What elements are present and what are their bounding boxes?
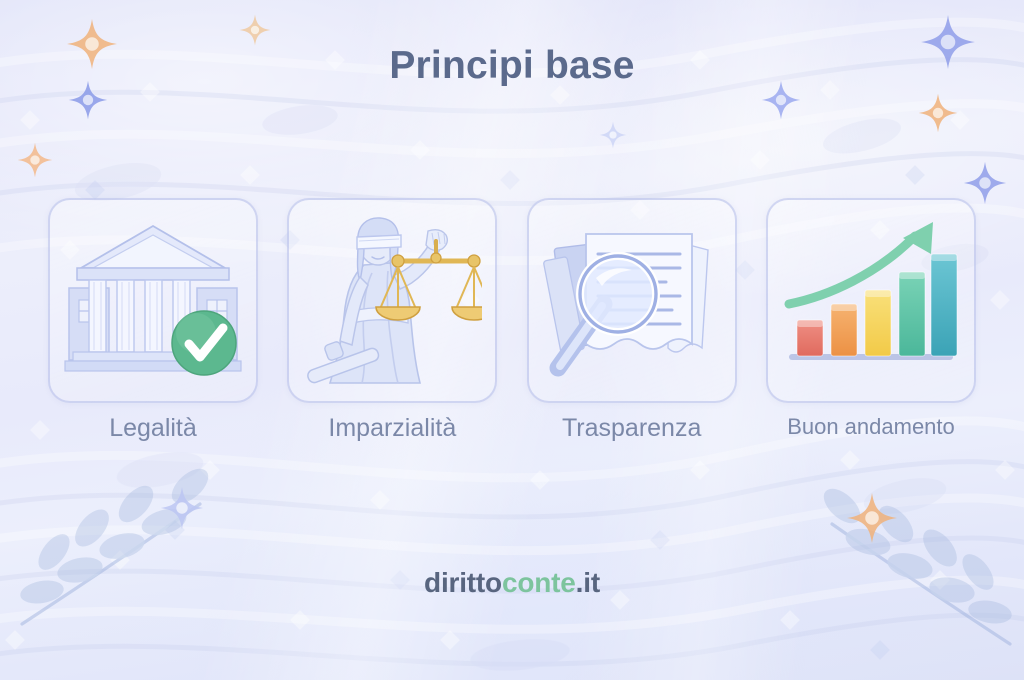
card-legalita[interactable] xyxy=(48,198,258,403)
card-label-trasparenza: Trasparenza xyxy=(527,414,737,443)
sparkle-star-icon xyxy=(599,121,627,149)
sparkle-star-icon xyxy=(239,14,271,46)
card-label-legalita: Legalità xyxy=(48,414,258,443)
card-buon-andamento[interactable] xyxy=(766,198,976,403)
check-badge-icon xyxy=(172,311,236,375)
site-brand: dirittoconte.it xyxy=(0,567,1024,599)
card-label-buon-andamento: Buon andamento xyxy=(766,414,976,443)
sparkle-star-icon xyxy=(918,93,958,133)
brand-part-diritto: diritto xyxy=(424,567,502,598)
page-title: Principi base xyxy=(0,44,1024,88)
card-imparzialita[interactable] xyxy=(287,198,497,403)
sparkle-star-icon xyxy=(846,492,898,544)
principles-card-row xyxy=(48,198,976,403)
laurel-branch-left-icon xyxy=(14,464,229,634)
principles-label-row: Legalità Imparzialità Trasparenza Buon a… xyxy=(48,414,976,443)
sparkle-star-icon xyxy=(17,142,53,178)
sparkle-star-icon xyxy=(160,486,204,530)
card-label-imparzialita: Imparzialità xyxy=(287,414,497,443)
courthouse-check-icon xyxy=(63,216,243,386)
growth-bar-chart-icon xyxy=(781,216,961,386)
brand-part-conte: conte xyxy=(502,567,576,598)
card-trasparenza[interactable] xyxy=(527,198,737,403)
brand-part-tld: .it xyxy=(576,567,600,598)
documents-magnifier-icon xyxy=(542,216,722,386)
lady-justice-icon xyxy=(302,213,482,388)
poster-canvas: Principi base xyxy=(0,0,1024,680)
